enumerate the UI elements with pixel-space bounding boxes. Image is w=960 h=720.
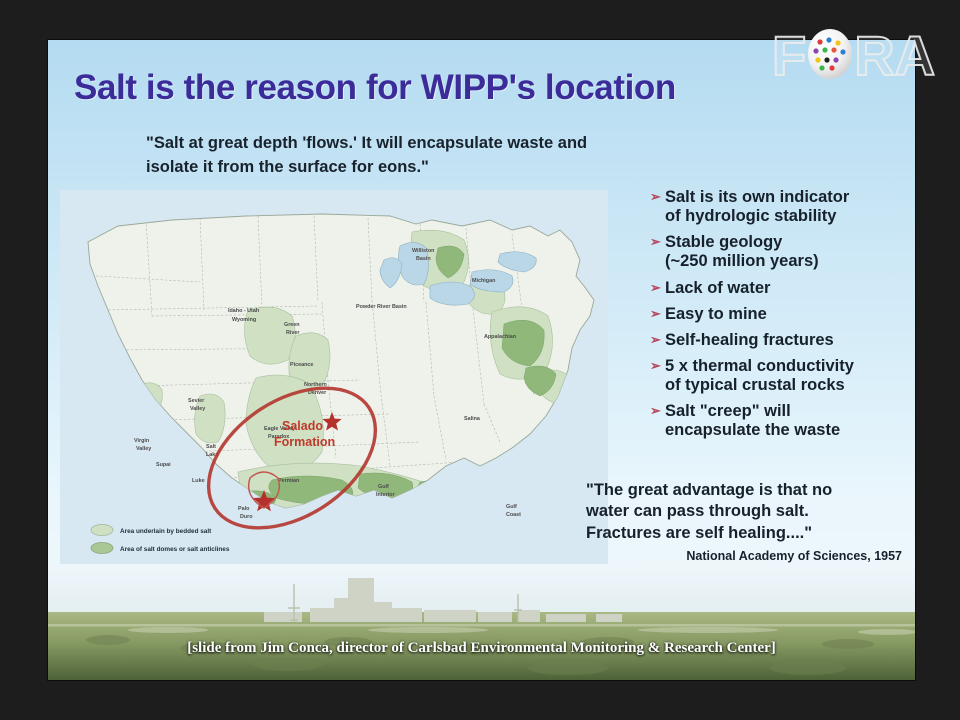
arrow-bullet-icon: ➢ [650,188,665,205]
slide-title: Salt is the reason for WIPP's location [74,68,894,108]
svg-text:Gulf: Gulf [506,504,517,510]
svg-text:Coast: Coast [506,512,521,518]
svg-text:Wyoming: Wyoming [232,317,256,323]
bullet-label: Salt is its own indicator of hydrologic … [665,188,908,226]
svg-text:River: River [286,330,300,336]
bullet-label: Self-healing fractures [665,331,908,350]
svg-text:Interior: Interior [376,492,395,498]
presentation-slide: Salt is the reason for WIPP's location "… [48,40,915,680]
top-quote-text: "Salt at great depth 'flows.' It will en… [146,132,626,180]
us-salt-deposits-map: Williston Basin Powder River Basin Idaho… [60,190,608,580]
svg-text:Permian: Permian [278,478,299,484]
bullet-item: ➢ Stable geology (~250 million years) [650,233,908,271]
svg-text:Williston: Williston [412,248,434,254]
svg-text:Virgin: Virgin [134,438,149,444]
nas-quote-attribution: National Academy of Sciences, 1957 [586,549,906,563]
svg-text:Basin: Basin [416,256,431,262]
bullet-item: ➢ Self-healing fractures [650,331,908,350]
arrow-bullet-icon: ➢ [650,305,665,322]
svg-text:Sevier: Sevier [188,398,205,404]
bullet-label: 5 x thermal conductivity of typical crus… [665,357,908,395]
svg-text:Luke: Luke [192,478,205,484]
svg-text:Gulf: Gulf [378,484,389,490]
arrow-bullet-icon: ➢ [650,233,665,250]
svg-text:Salt: Salt [206,444,216,450]
bullet-item: ➢ Lack of water [650,279,908,298]
svg-text:Area underlain by bedded salt: Area underlain by bedded salt [120,528,212,535]
svg-text:Valley: Valley [136,446,151,452]
nas-quote-block: "The great advantage is that no water ca… [586,480,906,563]
svg-text:Salina: Salina [464,416,481,422]
svg-text:Area of salt domes or salt ant: Area of salt domes or salt anticlines [120,546,230,553]
svg-text:Duro: Duro [240,514,253,520]
svg-text:Supai: Supai [156,462,171,468]
arrow-bullet-icon: ➢ [650,402,665,419]
svg-text:Green: Green [284,322,300,328]
bullet-label: Salt "creep" will encapsulate the waste [665,402,908,440]
svg-text:Palo: Palo [238,506,250,512]
video-player-frame: Salt is the reason for WIPP's location "… [0,0,960,720]
wipp-facility-photo [48,564,915,680]
svg-text:Powder River Basin: Powder River Basin [356,304,407,310]
svg-text:Michigan: Michigan [472,278,495,284]
slide-source-caption: [slide from Jim Conca, director of Carls… [48,640,915,657]
bullet-label: Stable geology (~250 million years) [665,233,908,271]
bullet-label: Easy to mine [665,305,908,324]
arrow-bullet-icon: ➢ [650,357,665,374]
bullet-item: ➢ Easy to mine [650,305,908,324]
arrow-bullet-icon: ➢ [650,279,665,296]
bullet-item: ➢ Salt "creep" will encapsulate the wast… [650,402,908,440]
svg-text:Idaho - Utah: Idaho - Utah [228,308,259,314]
benefits-bullet-list: ➢ Salt is its own indicator of hydrologi… [650,188,908,447]
svg-text:Piceance: Piceance [290,362,313,368]
nas-quote-text: "The great advantage is that no water ca… [586,480,906,544]
salado-label-line1: Salado [282,419,323,433]
salado-label-line2: Formation [274,435,335,449]
svg-text:Valley: Valley [190,406,205,412]
bullet-label: Lack of water [665,279,908,298]
arrow-bullet-icon: ➢ [650,331,665,348]
bullet-item: ➢ 5 x thermal conductivity of typical cr… [650,357,908,395]
svg-text:Appalachian: Appalachian [484,334,516,340]
bullet-item: ➢ Salt is its own indicator of hydrologi… [650,188,908,226]
